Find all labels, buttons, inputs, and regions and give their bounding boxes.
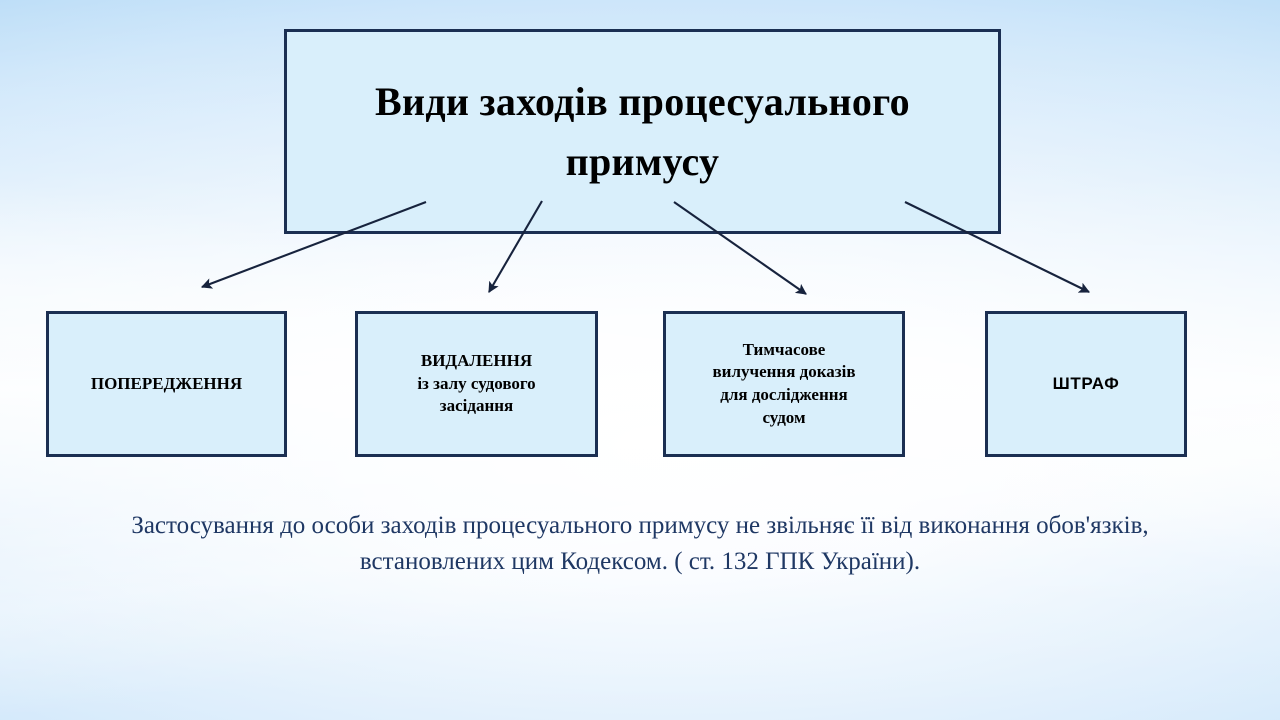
diagram-node-poperedzhennya[interactable]: ПОПЕРЕДЖЕННЯ [46, 311, 287, 457]
diagram-node-vydalennya[interactable]: ВИДАЛЕННЯ із залу судового засідання [355, 311, 598, 457]
node-shtraf-label: ШТРАФ [1047, 373, 1126, 396]
caption-line-1: Застосування до особи заходів процесуаль… [131, 512, 1030, 539]
root-label-line-1: Види заходів [375, 79, 608, 124]
node-3-line-1: Тимчасове [712, 339, 855, 362]
diagram-root-label: Види заходів процесуального примусу [301, 72, 984, 190]
slide-canvas: Види заходів процесуального примусу ПОПЕ… [0, 0, 1280, 720]
node-3-line-3: для дослідження [712, 384, 855, 407]
diagram-node-tymchasove-vyluchennya[interactable]: Тимчасове вилучення доказів для дослідже… [663, 311, 905, 457]
diagram-node-shtraf[interactable]: ШТРАФ [985, 311, 1187, 457]
node-4-line-1: ШТРАФ [1053, 373, 1120, 396]
node-2-line-3: засідання [417, 395, 535, 418]
node-tymchasove-label: Тимчасове вилучення доказів для дослідже… [706, 339, 861, 429]
node-1-line-1: ПОПЕРЕДЖЕННЯ [91, 373, 242, 396]
node-vydalennya-label: ВИДАЛЕННЯ із залу судового засідання [411, 350, 541, 418]
node-2-line-1: ВИДАЛЕННЯ [417, 350, 535, 373]
slide-caption: Застосування до особи заходів процесуаль… [92, 508, 1188, 580]
diagram-root-node[interactable]: Види заходів процесуального примусу [284, 29, 1001, 234]
node-2-line-2: із залу судового [417, 373, 535, 396]
node-3-line-4: судом [712, 407, 855, 430]
node-3-line-2: вилучення доказів [712, 361, 855, 384]
root-label-line-2: процесуального примусу [566, 79, 910, 183]
node-poperedzhennya-label: ПОПЕРЕДЖЕННЯ [85, 373, 248, 396]
